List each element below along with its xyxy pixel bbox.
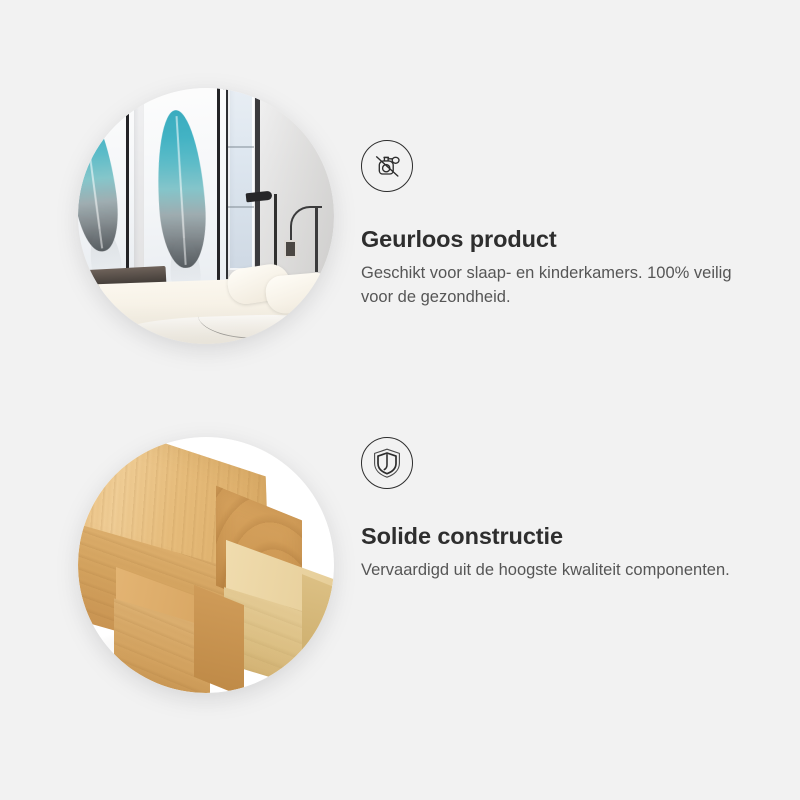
no-perfume-icon <box>361 140 413 192</box>
feature-block-odorless-product: Geurloos product Geschikt voor slaap- en… <box>0 60 800 390</box>
feature-image-odorless-product <box>78 88 334 344</box>
product-feature-page: Geurloos product Geschikt voor slaap- en… <box>0 0 800 800</box>
feature-image-solid-construction <box>78 437 334 693</box>
panel-rod-left <box>126 88 129 282</box>
arc-lamp-pole <box>315 208 318 272</box>
feature-block-solid-construction: Solide constructie Vervaardigd uit de ho… <box>0 415 800 745</box>
picture-frame-small <box>284 240 297 258</box>
cube-end-grain <box>194 585 244 693</box>
window-frame-right <box>255 88 260 279</box>
floor-shadow <box>78 304 334 344</box>
feature-description: Geschikt voor slaap- en kinderkamers. 10… <box>361 262 743 310</box>
feature-description: Vervaardigd uit de hoogste kwaliteit com… <box>361 559 743 583</box>
panel-rod-center <box>217 88 220 290</box>
bedroom-scene <box>78 88 334 344</box>
feature-title: Geurloos product <box>361 225 761 253</box>
feature-content-solid-construction: Solide constructie Vervaardigd uit de ho… <box>361 437 761 583</box>
feature-content-odorless-product: Geurloos product Geschikt voor slaap- en… <box>361 140 761 310</box>
wooden-beams-photo <box>78 437 334 693</box>
shield-icon <box>361 437 413 489</box>
feature-title: Solide constructie <box>361 522 761 550</box>
window <box>228 88 254 270</box>
desk-lamp-pole <box>274 194 277 272</box>
bedroom-feather-artwork-photo <box>78 88 334 344</box>
wood-scene <box>78 437 334 693</box>
